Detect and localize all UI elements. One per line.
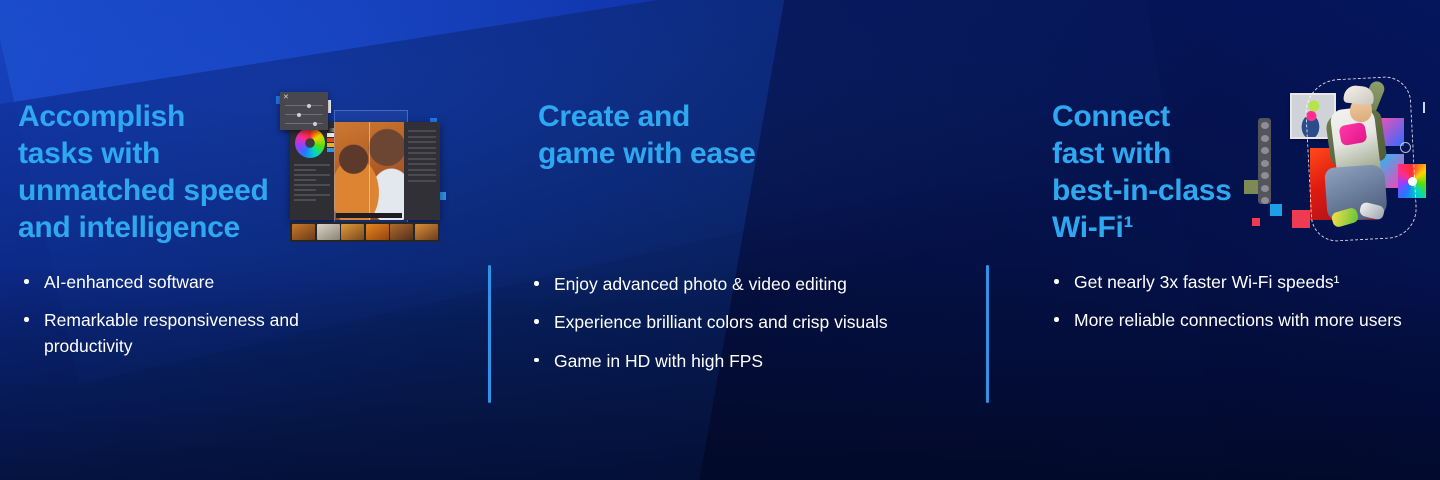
filmstrip-thumb[interactable] xyxy=(366,224,389,240)
adjustment-row[interactable] xyxy=(294,189,316,191)
bullet-item: More reliable connections with more user… xyxy=(1048,308,1428,333)
slider-row[interactable] xyxy=(285,112,323,117)
filmstrip-thumb[interactable] xyxy=(341,224,364,240)
editor-window xyxy=(290,122,440,220)
bullet-item: Get nearly 3x faster Wi-Fi speeds¹ xyxy=(1048,270,1428,295)
promo-banner: Accomplish tasks with unmatched speed an… xyxy=(0,0,1440,480)
slider-row[interactable] xyxy=(285,103,323,108)
color-wheel-icon[interactable] xyxy=(295,128,325,158)
layer-row[interactable] xyxy=(408,163,436,165)
adjustment-row[interactable] xyxy=(294,164,330,166)
layer-row[interactable] xyxy=(408,130,436,132)
layer-row[interactable] xyxy=(408,158,436,160)
adjustment-row[interactable] xyxy=(294,194,330,196)
editor-left-panel xyxy=(290,122,334,220)
layer-row[interactable] xyxy=(408,174,436,176)
adjustment-row[interactable] xyxy=(294,169,316,171)
heading-create-game: Create and game with ease xyxy=(538,99,756,173)
bullet-item: Remarkable responsiveness and productivi… xyxy=(18,308,348,359)
floating-adjust-panel: ✕ xyxy=(280,92,328,130)
bullet-item: AI-enhanced software xyxy=(18,270,348,295)
filmstrip-thumb[interactable] xyxy=(390,224,413,240)
bullets-connect: Get nearly 3x faster Wi-Fi speeds¹ More … xyxy=(1048,270,1428,347)
column-create-game: Create and game with ease xyxy=(488,0,968,480)
layer-row[interactable] xyxy=(408,152,436,154)
bullet-item: Experience brilliant colors and crisp vi… xyxy=(528,310,938,335)
layer-row[interactable] xyxy=(408,136,436,138)
layer-row[interactable] xyxy=(408,169,436,171)
bullet-item: Enjoy advanced photo & video editing xyxy=(528,272,938,297)
adjustment-row[interactable] xyxy=(294,199,316,201)
bullet-item: Game in HD with high FPS xyxy=(528,349,938,374)
adjustment-rows xyxy=(294,164,330,204)
layer-row[interactable] xyxy=(408,141,436,143)
canvas-tab-bar[interactable] xyxy=(336,213,402,218)
adjustment-row[interactable] xyxy=(294,174,330,176)
filmstrip xyxy=(290,222,440,242)
layer-rows xyxy=(408,130,436,185)
heading-accomplish: Accomplish tasks with unmatched speed an… xyxy=(18,99,269,247)
canvas-selection-overlay xyxy=(334,110,408,224)
editor-right-panel xyxy=(404,122,440,220)
filmstrip-thumb[interactable] xyxy=(292,224,315,240)
column-connect: Connect fast with best-in-class Wi-Fi¹ xyxy=(988,0,1440,480)
heading-connect: Connect fast with best-in-class Wi-Fi¹ xyxy=(1052,99,1232,247)
bullets-accomplish: AI-enhanced software Remarkable responsi… xyxy=(18,270,348,372)
column-accomplish: Accomplish tasks with unmatched speed an… xyxy=(0,0,470,480)
filmstrip-thumb[interactable] xyxy=(317,224,340,240)
adjustment-row[interactable] xyxy=(294,179,316,181)
layer-row[interactable] xyxy=(408,180,436,182)
photo-editing-app-mockup: ✕ xyxy=(280,92,455,240)
close-icon[interactable]: ✕ xyxy=(283,94,289,101)
bullets-create-game: Enjoy advanced photo & video editing Exp… xyxy=(528,272,938,387)
layer-row[interactable] xyxy=(408,147,436,149)
adjustment-row[interactable] xyxy=(294,184,330,186)
filmstrip-thumb[interactable] xyxy=(415,224,438,240)
slider-row[interactable] xyxy=(285,121,323,126)
